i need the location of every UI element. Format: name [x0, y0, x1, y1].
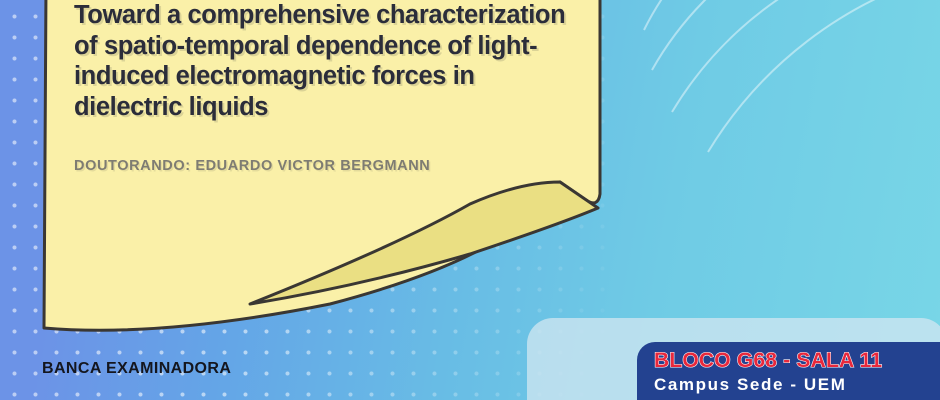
room-number-text: BLOCO G68 - SALA 11 [654, 349, 940, 373]
campus-text: Campus Sede - UEM [654, 375, 940, 395]
location-badge: BLOCO G68 - SALA 11 Campus Sede - UEM [637, 342, 940, 400]
committee-heading: BANCA EXAMINADORA [42, 360, 231, 378]
poster-canvas: Toward a comprehensive characterization … [0, 0, 940, 400]
yellow-paper-card: Toward a comprehensive characterization … [0, 0, 640, 346]
thesis-title: Toward a comprehensive characterization … [74, 0, 584, 122]
paper-text-block: Toward a comprehensive characterization … [74, 0, 584, 174]
doctoral-candidate-label: DOUTORANDO: EDUARDO VICTOR BERGMANN [74, 158, 584, 174]
